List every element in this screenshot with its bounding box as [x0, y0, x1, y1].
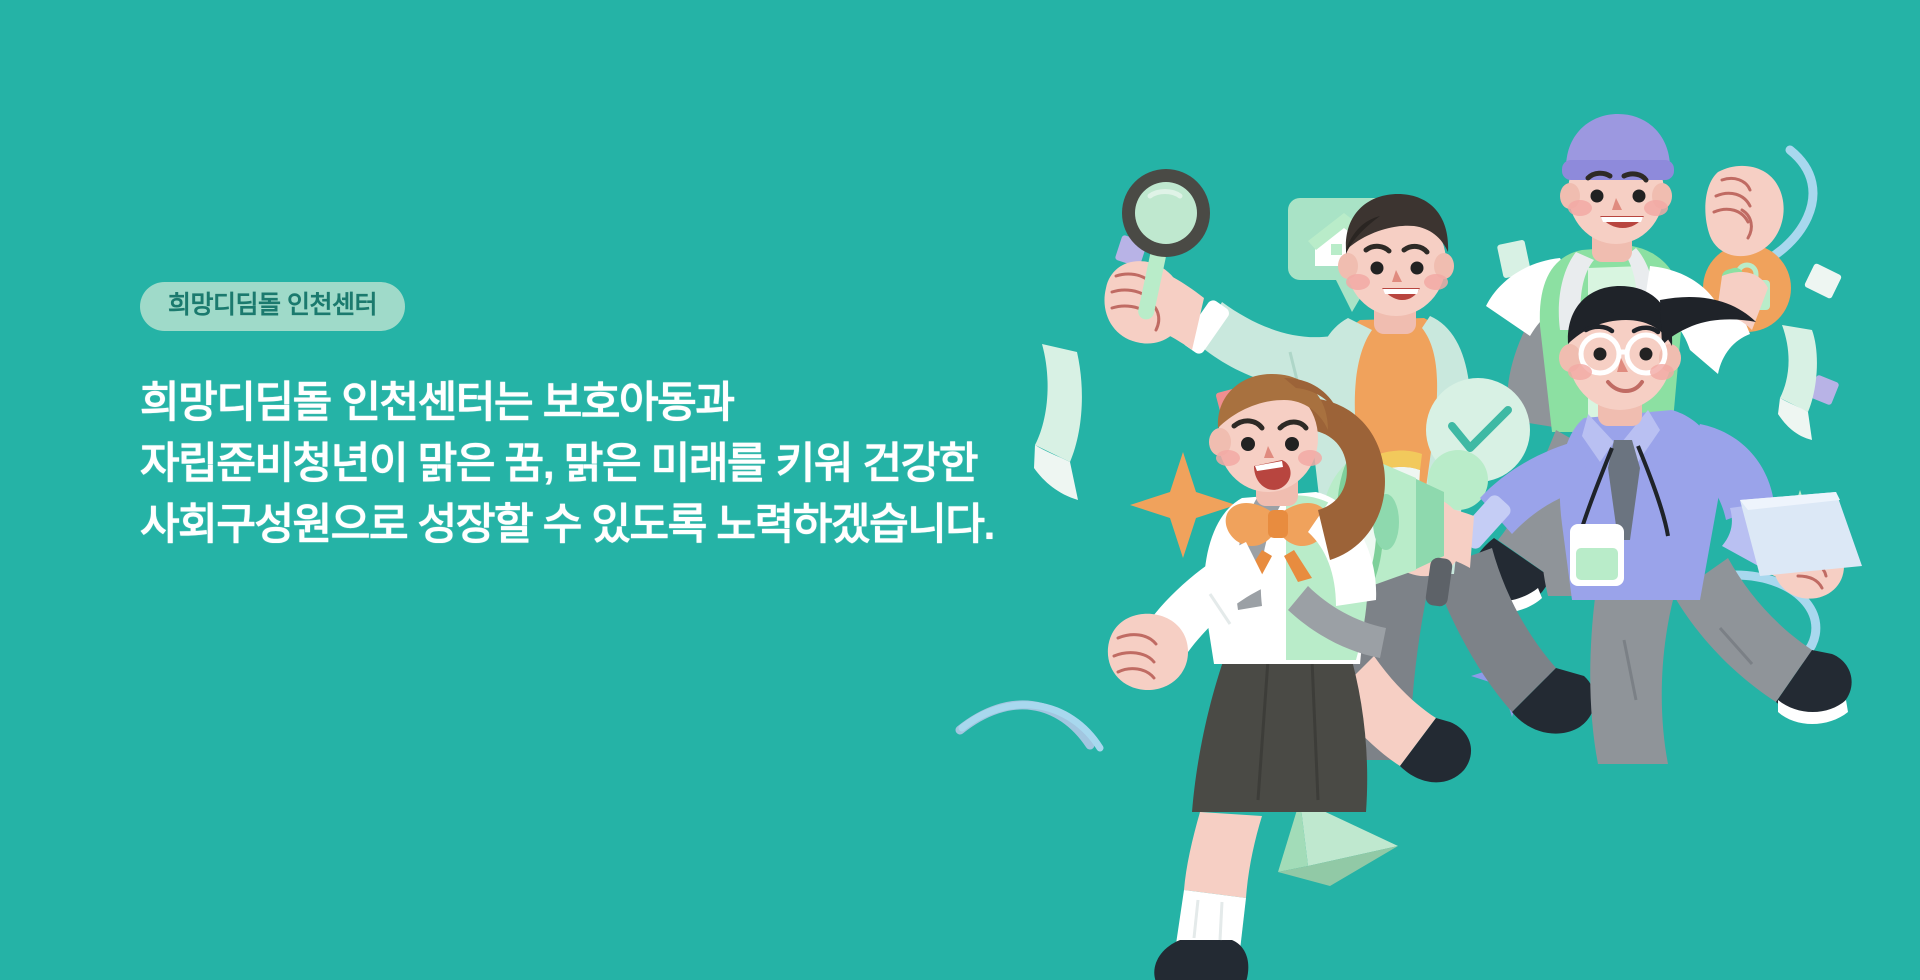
headline-line-1: 희망디딤돌 인천센터는 보호아동과: [140, 373, 994, 434]
center-name-badge: 희망디딤돌 인천센터: [140, 282, 405, 331]
headline-line-3: 사회구성원으로 성장할 수 있도록 노력하겠습니다.: [140, 495, 994, 556]
page-title: 희망디딤돌 인천센터는 보호아동과 자립준비청년이 맑은 꿈, 맑은 미래를 키…: [140, 373, 994, 556]
headline-line-2: 자립준비청년이 맑은 꿈, 맑은 미래를 키워 건강한: [140, 434, 994, 495]
hero-banner: 희망디딤돌 인천센터 희망디딤돌 인천센터는 보호아동과 자립준비청년이 맑은 …: [0, 0, 1920, 980]
hero-copy-block: 희망디딤돌 인천센터 희망디딤돌 인천센터는 보호아동과 자립준비청년이 맑은 …: [140, 282, 994, 556]
